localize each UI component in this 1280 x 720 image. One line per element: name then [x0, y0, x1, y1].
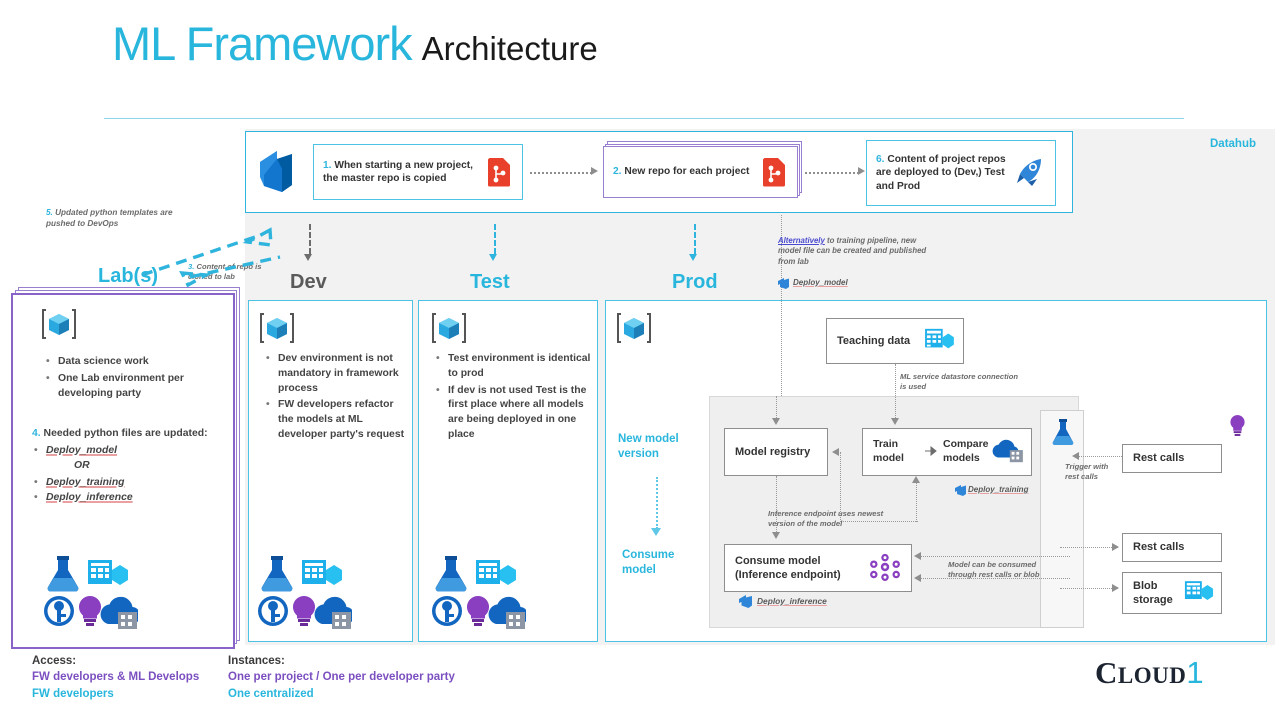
lab-step-4: 4. Needed python files are updated: Depl… — [32, 426, 227, 505]
footer-instances-purple: One per project / One per developer part… — [228, 669, 455, 685]
deploy-inference-link[interactable]: Deploy_inference — [757, 596, 827, 606]
rocket-deploy-icon — [1011, 157, 1045, 189]
connector-step2-step6-arrow — [858, 167, 865, 175]
connector-step1-step2-arrow — [591, 167, 598, 175]
test-service-icons — [430, 554, 526, 630]
env-header-test: Test — [470, 271, 510, 294]
insights-bulb-icon — [79, 596, 101, 626]
train-compare-box: Train model Compare models — [862, 428, 1032, 476]
lab-bullets: Data science work One Lab environment pe… — [44, 355, 224, 403]
connector-datahub-dev-arrow — [304, 254, 312, 261]
blob-storage-label: Blob storage — [1123, 579, 1184, 608]
connector-trigger-arrow — [1072, 452, 1079, 460]
page-title: ML FrameworkArchitecture — [112, 18, 598, 70]
new-model-version-label: New model version — [618, 432, 698, 462]
azure-devops-icon — [737, 593, 754, 609]
rest-calls-label-1: Rest calls — [1123, 451, 1221, 465]
connector-datahub-test — [494, 224, 496, 254]
connector-datahub-test-arrow — [489, 254, 497, 261]
storage-icon — [302, 560, 342, 585]
lab-service-icons — [42, 554, 138, 630]
git-repo-icon — [761, 157, 787, 187]
lab-devops-dashed-arrows — [130, 215, 300, 295]
connector-consume-rest-arrow — [914, 552, 921, 560]
consume-model-box: Consume model (Inference endpoint) — [724, 544, 912, 592]
footer-instances-header: Instances: — [228, 653, 455, 669]
connector-step2-step6 — [805, 172, 859, 175]
list-item: Test environment is identical to prod — [448, 352, 592, 382]
flask-icon — [48, 556, 79, 592]
connector-consume-train — [916, 478, 917, 522]
azure-devops-icon — [776, 276, 791, 290]
connector-trigger — [1078, 456, 1126, 457]
blob-storage-box: Blob storage — [1122, 572, 1222, 614]
footer-access-cyan: FW developers — [32, 686, 199, 702]
insights-bulb-icon — [467, 596, 489, 626]
title-main: ML Framework — [112, 17, 412, 70]
list-item: FW developers refactor the models at ML … — [278, 398, 406, 442]
train-model-label: Train model — [863, 438, 925, 465]
footer-instances: Instances: One per project / One per dev… — [228, 653, 455, 702]
footer-instances-cyan: One centralized — [228, 686, 455, 702]
cube-icon — [260, 311, 294, 345]
connector-consume-rest — [920, 556, 1070, 557]
connector-right-blob — [1060, 588, 1118, 589]
connector-datahub-dev — [309, 224, 311, 254]
consume-model-label: Consume model — [622, 548, 702, 578]
teaching-data-box: Teaching data — [826, 318, 964, 364]
insights-bulb-icon — [1228, 414, 1247, 442]
dev-bullets: Dev environment is not mandatory in fram… — [264, 352, 406, 445]
connector-band-registry-arrow — [772, 418, 780, 425]
connector-teaching-train — [895, 364, 896, 422]
connector-datahub-prod — [694, 224, 696, 254]
key-vault-icon — [44, 596, 74, 626]
connector-consume-blob-arrow — [914, 574, 921, 582]
ml-cloud-icon — [489, 597, 526, 629]
note-inference-endpoint: Inference endpoint uses newest version o… — [768, 509, 898, 529]
datahub-step-2-text: 2. New repo for each project — [604, 165, 761, 178]
git-repo-icon — [486, 157, 512, 187]
datahub-label: Datahub — [1210, 138, 1256, 150]
teaching-data-label: Teaching data — [827, 334, 924, 348]
model-registry-box: Model registry — [724, 428, 828, 476]
list-item: Data science work — [58, 355, 224, 370]
list-item: Dev environment is not mandatory in fram… — [278, 352, 406, 396]
key-vault-icon — [432, 596, 462, 626]
footer-access-header: Access: — [32, 653, 199, 669]
env-header-prod: Prod — [672, 271, 718, 294]
storage-icon — [476, 560, 516, 585]
footer-access-purple: FW developers & ML Develops — [32, 669, 199, 685]
azure-devops-icon — [953, 483, 968, 497]
database-icon — [924, 327, 963, 356]
connector-right-blob-arrow — [1112, 584, 1119, 592]
deploy-training-link[interactable]: Deploy_training — [968, 485, 1028, 494]
datahub-step-6: 6. Content of project repos are deployed… — [866, 140, 1056, 206]
consume-model-box-label: Consume model (Inference endpoint) — [725, 554, 869, 583]
ml-cloud-icon — [989, 437, 1032, 468]
note-ml-datastore: ML service datastore connection is used — [900, 372, 1020, 392]
ml-cloud-icon — [101, 597, 138, 629]
datahub-step-2: 2. New repo for each project — [603, 146, 798, 198]
connector-teaching-train-arrow — [891, 418, 899, 425]
connector-registry-consume-arrow — [772, 532, 780, 539]
lab-or-label: OR — [74, 458, 227, 473]
storage-icon — [1184, 579, 1221, 607]
cube-icon — [617, 311, 651, 345]
cube-icon — [432, 311, 466, 345]
rest-calls-box-1: Rest calls — [1122, 444, 1222, 473]
flask-icon — [1050, 418, 1076, 451]
note-alternatively: Alternatively to training pipeline, new … — [778, 236, 928, 267]
list-item: Deploy_inference — [46, 490, 227, 505]
ml-cloud-icon — [315, 597, 352, 629]
connector-newmodel-consume — [656, 477, 658, 529]
rest-calls-label-2: Rest calls — [1123, 540, 1221, 554]
list-item: If dev is not used Test is the first pla… — [448, 384, 592, 443]
title-divider — [104, 118, 1184, 119]
cloud1-logo: CLOUD1 — [1095, 655, 1204, 691]
datahub-step-1-text: 1. When starting a new project, the mast… — [314, 159, 486, 186]
datahub-step-6-text: 6. Content of project repos are deployed… — [867, 153, 1011, 193]
connector-right-rest2-arrow — [1112, 543, 1119, 551]
dev-service-icons — [256, 554, 352, 630]
key-vault-icon — [258, 596, 288, 626]
compare-models-label: Compare models — [937, 438, 989, 465]
env-header-dev: Dev — [290, 271, 327, 294]
note-trigger-rest: Trigger with rest calls — [1065, 462, 1123, 482]
cube-icon — [42, 307, 76, 341]
title-sub: Architecture — [422, 30, 598, 67]
train-compare-arrow-icon — [925, 446, 937, 459]
connector-step1-step2 — [530, 172, 592, 175]
connector-train-registry-arrow — [832, 448, 839, 456]
kubernetes-icon — [869, 553, 911, 584]
model-registry-label: Model registry — [725, 445, 827, 459]
connector-newmodel-consume-arrow — [651, 528, 661, 536]
list-item: Deploy_training — [46, 475, 227, 490]
list-item: Deploy_model — [46, 443, 227, 458]
rest-calls-box-2: Rest calls — [1122, 533, 1222, 562]
list-item: One Lab environment per developing party — [58, 372, 224, 402]
azure-devops-icon — [252, 145, 302, 197]
storage-icon — [88, 560, 128, 585]
footer-access: Access: FW developers & ML Develops FW d… — [32, 653, 199, 702]
connector-consume-train-arrow — [912, 476, 920, 483]
flask-icon — [436, 556, 467, 592]
deploy-model-link[interactable]: Deploy_model — [793, 278, 848, 287]
connector-datahub-prod-arrow — [689, 254, 697, 261]
connector-right-rest2 — [1060, 547, 1118, 548]
note-model-consumed: Model can be consumed through rest calls… — [948, 560, 1058, 580]
test-bullets: Test environment is identical to prod If… — [434, 352, 592, 445]
flask-icon — [262, 556, 293, 592]
insights-bulb-icon — [293, 596, 315, 626]
datahub-step-1: 1. When starting a new project, the mast… — [313, 144, 523, 200]
